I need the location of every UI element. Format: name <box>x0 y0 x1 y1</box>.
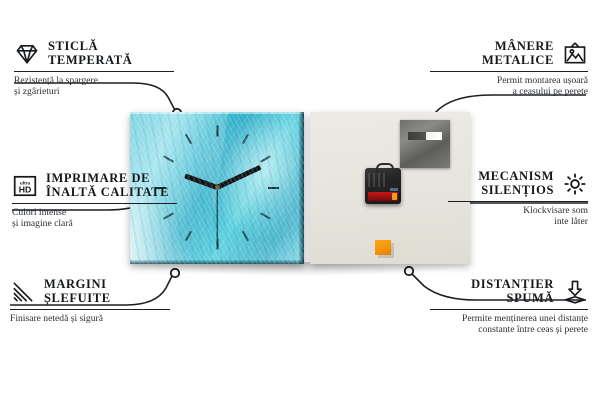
callout-divider <box>430 71 588 72</box>
product-drop-shadow <box>124 262 476 276</box>
callout-subtitle-line1: Permit montarea ușoară <box>430 75 588 86</box>
infographic-stage: STICLĂ TEMPERATĂ Rezistență la spargere … <box>0 0 600 400</box>
callout-divider <box>12 203 177 204</box>
clock-tick <box>242 231 249 242</box>
callout-subtitle-line1: Klockvisare som <box>448 205 588 216</box>
callout-silent-mechanism: MECANISM SILENȚIOS Klockvisare som inte … <box>448 170 588 227</box>
callout-header: ultra HD IMPRIMARE DE ÎNALTĂ CALITATE <box>12 172 177 199</box>
clock-tick <box>185 133 192 144</box>
svg-text:HD: HD <box>19 184 32 194</box>
callout-subtitle-line1: Culori intense <box>12 207 177 218</box>
panel-top-edge <box>130 112 304 114</box>
callout-title-line2: ÎNALTĂ CALITATE <box>46 186 169 200</box>
callout-title-line1: MARGINI <box>44 278 111 292</box>
callout-divider <box>14 71 174 72</box>
callout-high-quality-print: ultra HD IMPRIMARE DE ÎNALTĂ CALITATE Cu… <box>12 172 177 229</box>
panel-right-edge <box>299 112 304 264</box>
callout-foam-spacer: DISTANȚIER SPUMĂ Permite menținerea unei… <box>430 278 588 335</box>
minute-hand <box>216 165 262 190</box>
callout-header: MARGINI ȘLEFUITE <box>10 278 170 305</box>
product-image <box>130 112 470 264</box>
hanger-slot <box>408 132 442 140</box>
callout-subtitle-line1: Permite menținerea unei distanțe <box>430 313 588 324</box>
clock-tick <box>216 126 218 137</box>
ultra-hd-icon: ultra HD <box>12 173 38 199</box>
callout-subtitle-line1: Finisare netedă și sigură <box>10 313 170 324</box>
clock-mechanism <box>365 168 401 204</box>
callout-divider <box>10 309 170 310</box>
callout-title-line2: METALICE <box>482 54 554 68</box>
callout-divider <box>448 201 588 202</box>
callout-metal-handles: MÂNERE METALICE Permit montarea ușoară a… <box>430 40 588 97</box>
battery <box>368 192 398 201</box>
clock-tick <box>261 212 272 219</box>
callout-subtitle-line2: și imagine clară <box>12 218 177 229</box>
callout-header: MECANISM SILENȚIOS <box>448 170 588 197</box>
callout-title-line1: DISTANȚIER <box>471 278 554 292</box>
callout-title-line2: TEMPERATĂ <box>48 54 132 68</box>
callout-title-line1: MÂNERE <box>482 40 554 54</box>
callout-tempered-glass: STICLĂ TEMPERATĂ Rezistență la spargere … <box>14 40 174 97</box>
callout-header: STICLĂ TEMPERATĂ <box>14 40 174 67</box>
clock-tick <box>261 156 272 163</box>
hour-hand <box>184 174 218 190</box>
callout-title-line1: IMPRIMARE DE <box>46 172 169 186</box>
mechanism-label <box>390 188 398 191</box>
second-hand <box>216 187 217 239</box>
callout-title-line2: ȘLEFUITE <box>44 292 111 306</box>
callout-title-line1: MECANISM <box>478 170 554 184</box>
clock-tick <box>242 133 249 144</box>
clock-tick <box>163 156 174 163</box>
clock-center-cap <box>215 185 220 190</box>
callout-title-line1: STICLĂ <box>48 40 132 54</box>
hanging-picture-frame-icon <box>562 41 588 67</box>
callout-subtitle-line1: Rezistență la spargere <box>14 75 174 86</box>
foam-spacer <box>375 240 391 255</box>
callout-polished-edges: MARGINI ȘLEFUITE Finisare netedă și sigu… <box>10 278 170 324</box>
diamond-icon <box>14 41 40 67</box>
mechanism-hanging-loop <box>376 163 394 173</box>
callout-subtitle-line2: a ceasului pe perete <box>430 86 588 97</box>
clock-tick <box>268 187 279 189</box>
callout-header: DISTANȚIER SPUMĂ <box>430 278 588 305</box>
callout-header: MÂNERE METALICE <box>430 40 588 67</box>
callout-title-line2: SILENȚIOS <box>478 184 554 198</box>
panel-bottom-edge <box>130 260 304 264</box>
mechanism-dials <box>368 173 388 187</box>
clock-tick <box>216 239 218 250</box>
gear-icon <box>562 171 588 197</box>
callout-divider <box>430 309 588 310</box>
callout-subtitle-line2: constante între ceas și perete <box>430 324 588 335</box>
callout-subtitle-line2: și zgârieturi <box>14 86 174 97</box>
metal-hanger-bracket <box>400 120 450 168</box>
diagonal-lines-icon <box>10 279 36 305</box>
callout-subtitle-line2: inte låter <box>448 216 588 227</box>
down-arrow-stack-icon <box>562 279 588 305</box>
clock-back-panel <box>310 112 470 264</box>
callout-title-line2: SPUMĂ <box>471 292 554 306</box>
clock-tick <box>185 231 192 242</box>
